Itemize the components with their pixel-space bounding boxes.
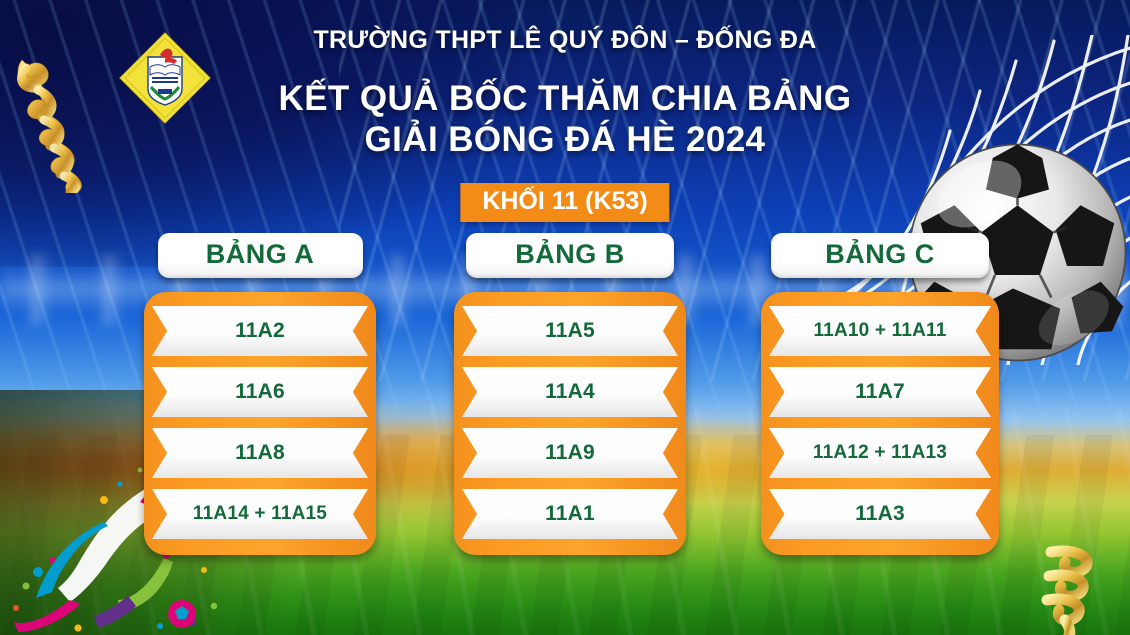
group-columns: BẢNG A 11A2 11A6 11A8 11A14 + 11A15 BẢNG… — [0, 233, 1130, 633]
team-chip[interactable]: 11A3 — [769, 489, 991, 539]
team-chip[interactable]: 11A8 — [152, 428, 368, 478]
group-b-panel: 11A5 11A4 11A9 11A1 — [454, 292, 686, 555]
team-chip[interactable]: 11A10 + 11A11 — [769, 306, 991, 356]
team-chip[interactable]: 11A1 — [462, 489, 678, 539]
group-b-title: BẢNG B — [466, 233, 674, 278]
main-title-line-2: GIẢI BÓNG ĐÁ HÈ 2024 — [0, 119, 1130, 160]
page-title: KẾT QUẢ BỐC THĂM CHIA BẢNG GIẢI BÓNG ĐÁ … — [0, 78, 1130, 160]
group-column-b: BẢNG B 11A5 11A4 11A9 11A1 — [450, 233, 690, 555]
team-chip[interactable]: 11A6 — [152, 367, 368, 417]
team-chip[interactable]: 11A14 + 11A15 — [152, 489, 368, 539]
team-chip[interactable]: 11A7 — [769, 367, 991, 417]
team-chip[interactable]: 11A2 — [152, 306, 368, 356]
group-column-c: BẢNG C 11A10 + 11A11 11A7 11A12 + 11A13 … — [760, 233, 1000, 555]
main-title-line-1: KẾT QUẢ BỐC THĂM CHIA BẢNG — [0, 78, 1130, 119]
group-a-panel: 11A2 11A6 11A8 11A14 + 11A15 — [144, 292, 376, 555]
group-c-panel: 11A10 + 11A11 11A7 11A12 + 11A13 11A3 — [761, 292, 999, 555]
team-chip[interactable]: 11A12 + 11A13 — [769, 428, 991, 478]
team-chip[interactable]: 11A5 — [462, 306, 678, 356]
team-chip[interactable]: 11A9 — [462, 428, 678, 478]
group-c-title: BẢNG C — [771, 233, 989, 278]
grade-badge: KHỐI 11 (K53) — [460, 183, 669, 222]
team-chip[interactable]: 11A4 — [462, 367, 678, 417]
poster-canvas: TRƯỜNG THPT LÊ QUÝ ĐÔN – ĐỐNG ĐA KẾT QUẢ… — [0, 0, 1130, 635]
group-column-a: BẢNG A 11A2 11A6 11A8 11A14 + 11A15 — [140, 233, 380, 555]
group-a-title: BẢNG A — [158, 233, 363, 278]
school-title: TRƯỜNG THPT LÊ QUÝ ĐÔN – ĐỐNG ĐA — [0, 26, 1130, 55]
